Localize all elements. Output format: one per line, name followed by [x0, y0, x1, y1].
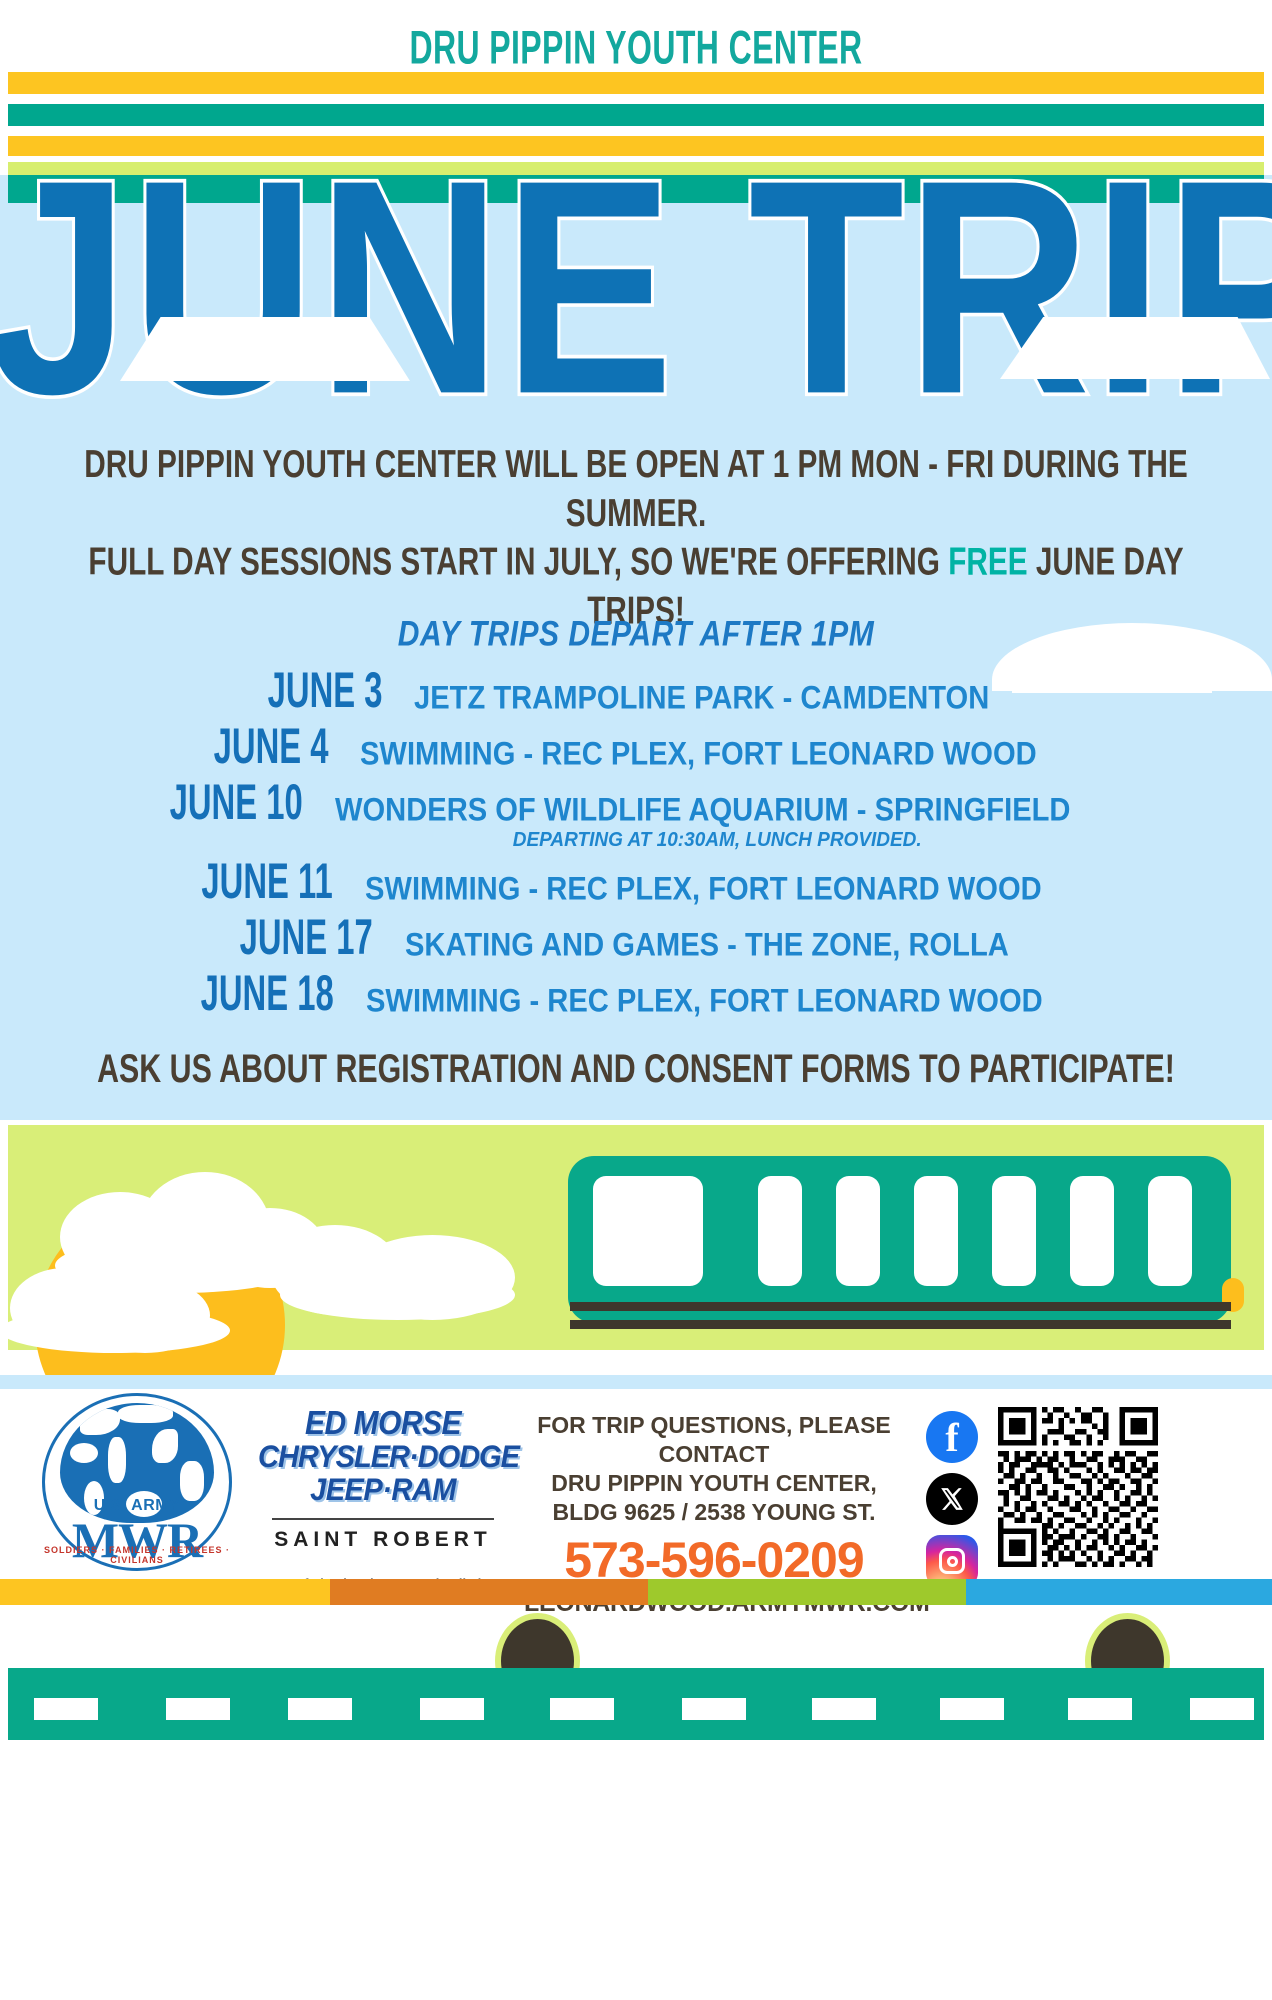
- color-bar-blue: [966, 1579, 1272, 1605]
- header-stripe-yellow-1: [8, 72, 1264, 94]
- trip-description: SWIMMING - REC PLEX, FORT LEONARD WOOD: [366, 983, 1043, 1019]
- trip-row: JUNE 10 WONDERS OF WILDLIFE AQUARIUM - S…: [0, 787, 1272, 852]
- sponsor-line-3: JEEP·RAM: [258, 1472, 508, 1508]
- sponsor-line-2: CHRYSLER·DODGE: [258, 1439, 508, 1475]
- bus-window: [1148, 1176, 1192, 1286]
- color-bar-lime: [648, 1579, 966, 1605]
- header-stripe-teal: [8, 104, 1264, 126]
- intro-text: DRU PIPPIN YOUTH CENTER WILL BE OPEN AT …: [45, 405, 1228, 634]
- page-title: DRU PIPPIN YOUTH CENTER: [127, 22, 1145, 75]
- bus-window: [758, 1176, 802, 1286]
- bus-window: [992, 1176, 1036, 1286]
- trip-subnote: DEPARTING AT 10:30AM, LUNCH PROVIDED.: [337, 829, 1097, 852]
- contact-line-3: BLDG 9625 / 2538 YOUNG ST.: [524, 1498, 904, 1527]
- sponsor-logo: ED MORSE CHRYSLER·DODGE JEEP·RAM SAINT R…: [258, 1407, 508, 1591]
- trip-description: WONDERS OF WILDLIFE AQUARIUM - SPRINGFIE…: [335, 792, 1070, 828]
- trip-detail: SWIMMING - REC PLEX, FORT LEONARD WOOD: [347, 873, 1085, 907]
- trip-date: JUNE 4: [206, 721, 329, 774]
- trip-date: JUNE 11: [201, 856, 332, 909]
- color-bar-yellow: [0, 1579, 330, 1605]
- us-army-mwr-logo: U.S. ARMY MWR SOLDIERS · FAMILIES · RETI…: [42, 1393, 232, 1571]
- bus-window: [914, 1176, 958, 1286]
- footer-color-bar: [0, 1579, 1272, 1605]
- trip-row: JUNE 17 SKATING AND GAMES - THE ZONE, RO…: [0, 922, 1272, 964]
- trip-date: JUNE 3: [260, 665, 383, 718]
- intro-line-2-before: FULL DAY SESSIONS START IN JULY, SO WE'R…: [88, 539, 948, 583]
- color-bar-orange: [330, 1579, 648, 1605]
- trip-description: SKATING AND GAMES - THE ZONE, ROLLA: [405, 927, 1009, 963]
- header-stripe-yellow-2: [8, 136, 1264, 156]
- cloud-icon: [1000, 317, 1270, 379]
- sponsor-city: SAINT ROBERT: [258, 1528, 508, 1552]
- cloud-icon: [120, 317, 410, 381]
- mwr-tagline: SOLDIERS · FAMILIES · RETIREES · CIVILIA…: [42, 1545, 232, 1565]
- x-twitter-icon[interactable]: [926, 1473, 978, 1525]
- trip-row: JUNE 3 JETZ TRAMPOLINE PARK - CAMDENTON: [0, 675, 1272, 717]
- road-dash: [34, 1698, 98, 1720]
- trip-description: JETZ TRAMPOLINE PARK - CAMDENTON: [414, 680, 989, 716]
- bus-illustration: [0, 1120, 1272, 1375]
- sponsor-divider: [272, 1518, 494, 1520]
- trip-date: JUNE 10: [169, 777, 302, 830]
- trip-row: JUNE 4 SWIMMING - REC PLEX, FORT LEONARD…: [0, 731, 1272, 773]
- trip-date: JUNE 17: [239, 912, 372, 965]
- trip-description: SWIMMING - REC PLEX, FORT LEONARD WOOD: [360, 736, 1037, 772]
- content-body: DRU PIPPIN YOUTH CENTER WILL BE OPEN AT …: [0, 405, 1272, 1120]
- contact-line-2: DRU PIPPIN YOUTH CENTER,: [524, 1469, 904, 1498]
- trip-detail: JETZ TRAMPOLINE PARK - CAMDENTON: [396, 682, 1026, 716]
- road-dash: [1190, 1698, 1254, 1720]
- trip-date: JUNE 18: [201, 968, 334, 1021]
- trip-detail: WONDERS OF WILDLIFE AQUARIUM - SPRINGFIE…: [317, 794, 1117, 852]
- depart-note: DAY TRIPS DEPART AFTER 1PM: [0, 615, 1272, 655]
- sponsor-line-1: ED MORSE: [258, 1405, 508, 1442]
- footer-top-edge: [0, 1375, 1272, 1389]
- footer: U.S. ARMY MWR SOLDIERS · FAMILIES · RETI…: [0, 1375, 1272, 1605]
- road-dash: [420, 1698, 484, 1720]
- trip-detail: SKATING AND GAMES - THE ZONE, ROLLA: [387, 929, 1047, 963]
- trip-list: JUNE 3 JETZ TRAMPOLINE PARK - CAMDENTON …: [0, 675, 1272, 1020]
- bus-window: [836, 1176, 880, 1286]
- bus-stripe: [570, 1302, 1231, 1311]
- free-highlight: FREE: [948, 539, 1027, 583]
- road-dash: [550, 1698, 614, 1720]
- trip-row: JUNE 18 SWIMMING - REC PLEX, FORT LEONAR…: [0, 978, 1272, 1020]
- header-banner: DRU PIPPIN YOUTH CENTER: [0, 0, 1272, 175]
- trip-detail: SWIMMING - REC PLEX, FORT LEONARD WOOD: [342, 738, 1080, 772]
- road-dash: [166, 1698, 230, 1720]
- trip-row: JUNE 11 SWIMMING - REC PLEX, FORT LEONAR…: [0, 866, 1272, 908]
- intro-line-1: DRU PIPPIN YOUTH CENTER WILL BE OPEN AT …: [45, 439, 1228, 537]
- road-dash: [682, 1698, 746, 1720]
- road-dash: [288, 1698, 352, 1720]
- ask-us-note: ASK US ABOUT REGISTRATION AND CONSENT FO…: [51, 1046, 1221, 1092]
- road-dash: [940, 1698, 1004, 1720]
- contact-line-1: FOR TRIP QUESTIONS, PLEASE CONTACT: [524, 1411, 904, 1469]
- trip-description: SWIMMING - REC PLEX, FORT LEONARD WOOD: [365, 871, 1042, 907]
- cloud-icon: [280, 1270, 515, 1320]
- title-banner: JUNE TRIPS: [0, 175, 1272, 405]
- qr-code[interactable]: [998, 1407, 1158, 1567]
- bus-window: [1070, 1176, 1114, 1286]
- social-links: f: [916, 1411, 988, 1587]
- bus-window: [593, 1176, 703, 1286]
- facebook-icon[interactable]: f: [926, 1411, 978, 1463]
- cloud-icon: [0, 1308, 230, 1353]
- bus-stripe: [570, 1320, 1231, 1329]
- road-dash: [812, 1698, 876, 1720]
- road-dash: [1068, 1698, 1132, 1720]
- trip-detail: SWIMMING - REC PLEX, FORT LEONARD WOOD: [348, 985, 1086, 1019]
